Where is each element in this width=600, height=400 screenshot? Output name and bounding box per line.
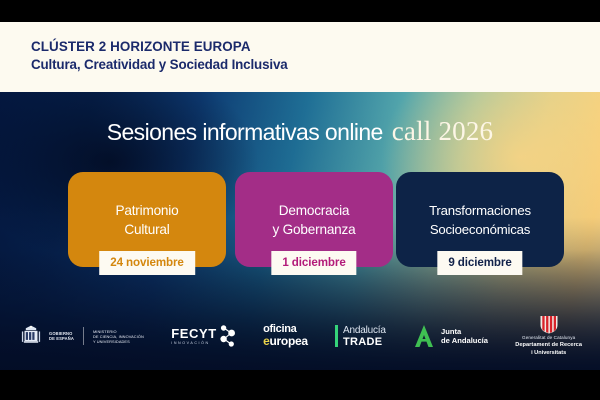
- fecyt-name: FECYT: [171, 327, 217, 340]
- oficina-line2-rest: uropea: [270, 334, 308, 348]
- letterbox-bar-top: [0, 0, 600, 22]
- fecyt-molecule-icon: [220, 323, 236, 349]
- ministerio-text-block: MINISTERIO DE CIENCIA, INNOVACIÓN Y UNIV…: [93, 329, 144, 344]
- gencat-line2: Departament de Recerca: [515, 342, 582, 349]
- main-title-serif: call 2026: [392, 116, 494, 146]
- trade-line1: Andalucía: [343, 325, 386, 336]
- oficina-text-block: oficina europea: [263, 324, 308, 348]
- card-title-line2: Cultural: [124, 220, 169, 239]
- ministerio-line2: DE CIENCIA, INNOVACIÓN: [93, 334, 144, 339]
- gradient-background: Sesiones informativas onlinecall 2026 Pa…: [0, 92, 600, 370]
- gobierno-line2: DE ESPAÑA: [49, 336, 74, 341]
- session-card-patrimonio[interactable]: Patrimonio Cultural 24 noviembre: [68, 172, 226, 292]
- header-title-block: CLÚSTER 2 HORIZONTE EUROPA Cultura, Crea…: [31, 38, 288, 74]
- session-cards-row: Patrimonio Cultural 24 noviembre Democra…: [0, 172, 600, 292]
- logo-andalucia-trade: Andalucía TRADE: [335, 325, 386, 348]
- oficina-line2: europea: [263, 335, 308, 348]
- trade-text-block: Andalucía TRADE: [343, 325, 386, 348]
- trade-line2: TRADE: [343, 336, 386, 348]
- logo-divider: [83, 327, 84, 345]
- card-title-line1: Democracia: [279, 201, 350, 220]
- date-badge-democracia: 1 diciembre: [271, 251, 356, 275]
- session-card-transformaciones[interactable]: Transformaciones Socioeconómicas 9 dicie…: [396, 172, 564, 292]
- header-band: CLÚSTER 2 HORIZONTE EUROPA Cultura, Crea…: [0, 22, 600, 92]
- logo-strip: GOBIERNO DE ESPAÑA MINISTERIO DE CIENCIA…: [0, 310, 600, 362]
- letterbox-bar-bottom: [0, 370, 600, 400]
- ministerio-line3: Y UNIVERSIDADES: [93, 339, 144, 344]
- junta-green-a-icon: [413, 323, 437, 349]
- gobierno-text-block: GOBIERNO DE ESPAÑA: [49, 331, 74, 341]
- main-title-sans: Sesiones informativas online: [107, 119, 383, 145]
- gencat-line1: Generalitat de Catalunya: [522, 335, 575, 341]
- fecyt-text-block: FECYT INNOVACIÓN: [171, 327, 217, 346]
- logo-generalitat-de-catalunya: Generalitat de Catalunya Departament de …: [515, 315, 582, 357]
- logo-gobierno-de-espana: GOBIERNO DE ESPAÑA MINISTERIO DE CIENCIA…: [18, 323, 144, 349]
- card-title-line1: Transformaciones: [429, 201, 531, 220]
- junta-line2: de Andalucía: [441, 336, 488, 345]
- junta-text-block: Junta de Andalucía: [441, 327, 488, 345]
- catalonia-shield-icon: [539, 315, 559, 334]
- header-line-subtitle: Cultura, Creatividad y Sociedad Inclusiv…: [31, 56, 288, 74]
- card-title-line1: Patrimonio: [116, 201, 179, 220]
- junta-line1: Junta: [441, 327, 488, 336]
- card-title-line2: Socioeconómicas: [430, 220, 530, 239]
- logo-junta-de-andalucia: Junta de Andalucía: [413, 323, 488, 349]
- spanish-coat-of-arms-icon: [18, 323, 44, 349]
- logo-fecyt: FECYT INNOVACIÓN: [171, 323, 236, 349]
- date-badge-transformaciones: 9 diciembre: [437, 251, 522, 275]
- session-card-democracia[interactable]: Democracia y Gobernanza 1 diciembre: [235, 172, 393, 292]
- card-title-line2: y Gobernanza: [273, 220, 356, 239]
- poster-image: CLÚSTER 2 HORIZONTE EUROPA Cultura, Crea…: [0, 0, 600, 400]
- logo-oficina-europea: oficina europea: [263, 324, 308, 348]
- date-badge-patrimonio: 24 noviembre: [99, 251, 195, 275]
- main-title: Sesiones informativas onlinecall 2026: [0, 116, 600, 147]
- trade-accent-bar: [335, 325, 338, 347]
- gencat-line3: i Universitats: [531, 350, 566, 357]
- header-line-cluster: CLÚSTER 2 HORIZONTE EUROPA: [31, 38, 288, 56]
